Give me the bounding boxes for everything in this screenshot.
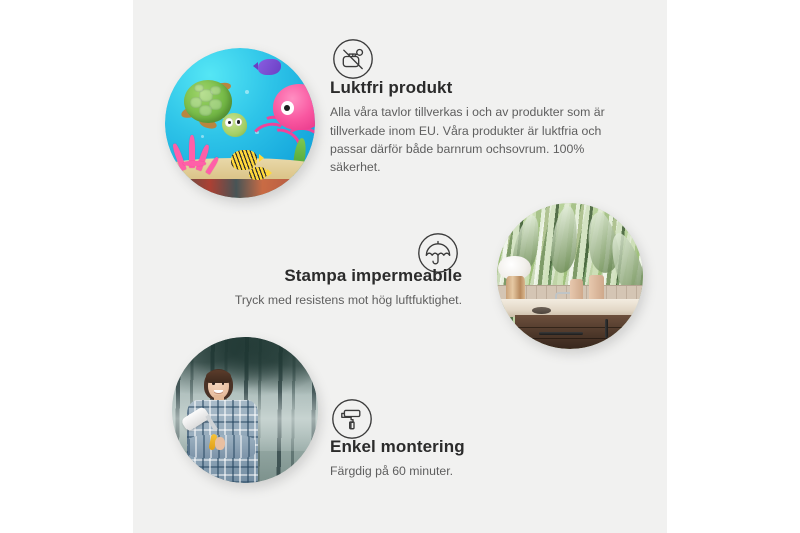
feature-body: Alla våra tavlor tillverkas i och av pro… xyxy=(330,103,626,176)
woman-illustration xyxy=(184,369,263,483)
bathroom-photo xyxy=(497,203,643,349)
hair-top xyxy=(206,370,231,383)
vanity-cabinet xyxy=(515,315,643,349)
drawer-handle xyxy=(539,332,583,335)
octopus-eye xyxy=(281,101,294,115)
eye xyxy=(212,382,215,385)
installer-photo xyxy=(172,337,318,483)
octopus-head xyxy=(273,84,315,130)
feature-text-odour-free: Luktfri produkt Alla våra tavlor tillver… xyxy=(330,78,626,176)
feature-image-easy-installation xyxy=(172,337,318,483)
feature-image-odour-free xyxy=(165,48,315,198)
ocean-mural-artwork xyxy=(165,48,315,198)
eye xyxy=(222,382,225,385)
feature-body: Tryck med resistens mot hög luftfuktighe… xyxy=(200,291,462,309)
sea-floor-rocks xyxy=(189,179,294,199)
feature-body: Färgdig på 60 minuter. xyxy=(330,462,580,480)
sea-turtle-illustration xyxy=(179,80,248,140)
cabinet-handle xyxy=(605,319,608,338)
no-fragrance-icon xyxy=(332,38,374,80)
yellow-fish-icon xyxy=(231,150,257,170)
turtle-eye xyxy=(225,118,232,126)
soap-bottle xyxy=(570,279,583,301)
coral-illustration xyxy=(170,135,218,180)
feature-title: Enkel montering xyxy=(330,437,580,457)
feature-image-waterproof-print xyxy=(497,203,643,349)
soap-bottle xyxy=(589,275,604,303)
paint-roller-icon xyxy=(331,398,373,440)
feature-text-easy-installation: Enkel montering Färgdig på 60 minuter. xyxy=(330,437,580,481)
feature-title: Luktfri produkt xyxy=(330,78,626,98)
turtle-eye xyxy=(235,118,242,126)
turtle-head xyxy=(222,113,247,137)
soap-dish xyxy=(532,307,551,314)
countertop xyxy=(497,299,643,317)
feature-title: Stampa impermeabile xyxy=(200,266,462,286)
purple-fish-icon xyxy=(258,59,281,76)
octopus-illustration xyxy=(255,84,315,153)
cabinet-handle xyxy=(633,319,636,338)
yellow-fish-icon xyxy=(249,167,267,181)
feature-text-waterproof-print: Stampa impermeabile Tryck med resistens … xyxy=(200,266,462,310)
hand xyxy=(215,437,225,450)
product-feature-infographic: Luktfri produkt Alla våra tavlor tillver… xyxy=(0,0,800,533)
